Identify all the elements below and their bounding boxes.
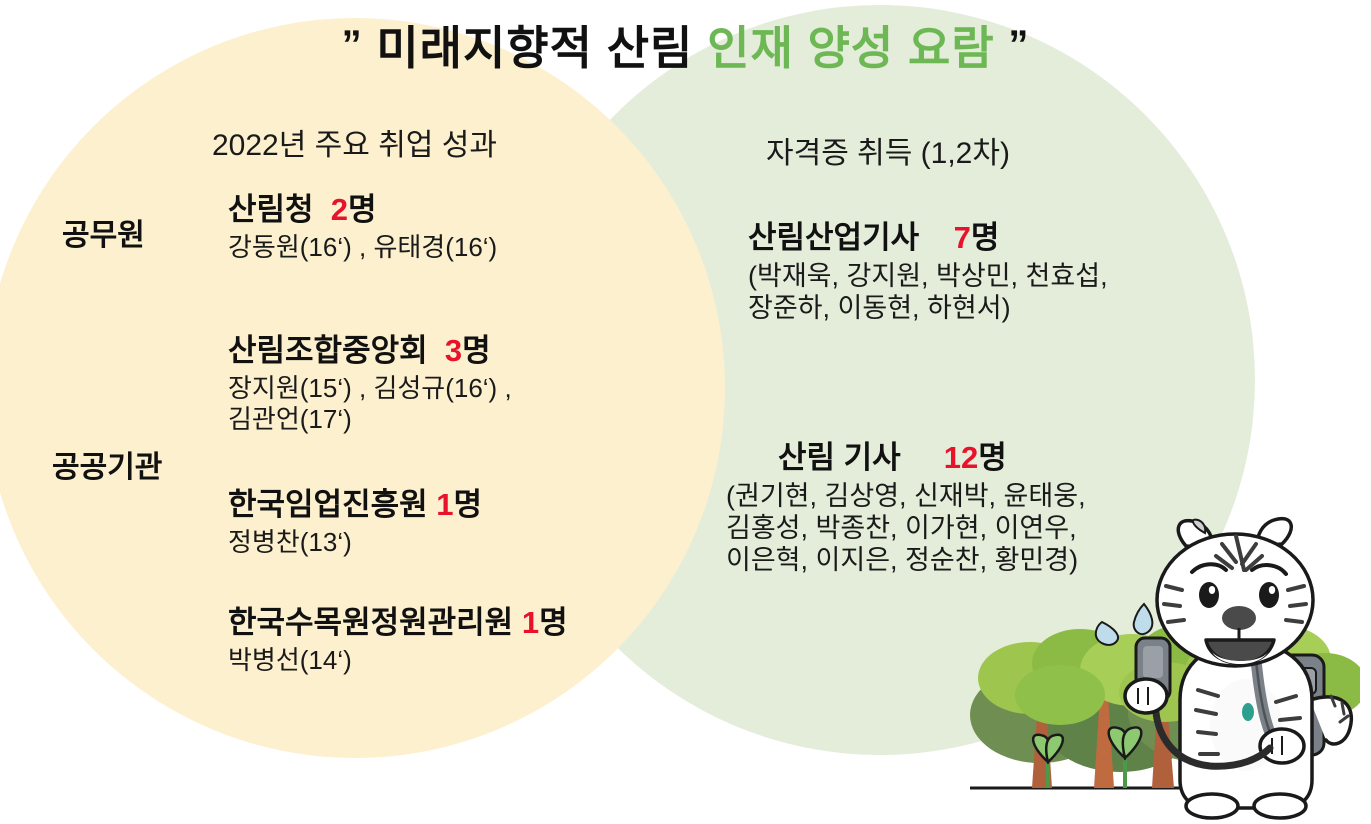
entry-forest-industry-engineer-unit: 명: [971, 220, 1000, 255]
entry-forestry-coop-count: 3: [445, 333, 462, 368]
tiger-right-paw: [1260, 729, 1304, 763]
infographic-canvas: ” 미래지향적 산림 인재 양성 요람 ” 2022년 주요 취업 성과 공무원…: [0, 0, 1371, 824]
entry-forest-service-org: 산림청: [228, 192, 314, 227]
entry-arboretum-garden-org: 한국수목원정원관리원: [228, 605, 513, 640]
quote-close: ”: [1008, 23, 1029, 67]
entry-arboretum-garden-count: 1: [522, 605, 539, 640]
entry-forest-industry-engineer-names: (박재욱, 강지원, 박상민, 천효섭, 장준하, 이동현, 하현서): [748, 260, 1108, 325]
entry-forest-service: 산림청 2명 강동원(16‘) , 유태경(16‘): [228, 192, 497, 263]
entry-arboretum-garden-names: 박병선(14‘): [228, 645, 568, 677]
entry-forestry-coop-org-line: 산림조합중앙회 3명: [228, 333, 512, 369]
entry-forest-engineer-count: 12: [944, 440, 978, 475]
entry-forestry-promotion-count: 1: [436, 487, 453, 522]
left-circle-heading: 2022년 주요 취업 성과: [212, 120, 497, 164]
tiger-head: [1157, 519, 1313, 666]
entry-forest-engineer-unit: 명: [978, 440, 1007, 475]
quote-open: ”: [342, 23, 363, 67]
entry-forestry-coop-unit: 명: [462, 333, 491, 368]
entry-forestry-promotion: 한국임업진흥원 1명 정병찬(13‘): [228, 487, 482, 558]
entry-forest-industry-engineer-org: 산림산업기사: [748, 220, 919, 255]
entry-arboretum-garden: 한국수목원정원관리원 1명 박병선(14‘): [228, 605, 568, 676]
right-circle-heading: 자격증 취득 (1,2차): [766, 128, 1010, 172]
entry-forest-service-count: 2: [331, 192, 348, 227]
entry-forestry-coop-names: 장지원(15‘) , 김성규(16‘) , 김관언(17‘): [228, 373, 512, 436]
entry-forest-engineer-org-line: 산림 기사 12명: [726, 440, 1086, 476]
title-green-part: 인재 양성 요람: [707, 22, 994, 74]
tiger-left-paw: [1125, 679, 1167, 713]
entry-forestry-coop-org: 산림조합중앙회: [228, 333, 428, 368]
category-label-public-institution: 공공기관: [52, 442, 162, 486]
page-title: ” 미래지향적 산림 인재 양성 요람 ”: [0, 25, 1371, 71]
entry-arboretum-garden-unit: 명: [539, 605, 568, 640]
category-label-public-official: 공무원: [62, 210, 145, 254]
mascot-illustration: [960, 500, 1360, 824]
entry-forest-industry-engineer: 산림산업기사 7명 (박재욱, 강지원, 박상민, 천효섭, 장준하, 이동현,…: [748, 220, 1108, 324]
entry-forest-industry-engineer-count: 7: [954, 220, 971, 255]
entry-forestry-promotion-org-line: 한국임업진흥원 1명: [228, 487, 482, 523]
entry-forestry-promotion-unit: 명: [454, 487, 483, 522]
entry-forest-service-org-line: 산림청 2명: [228, 192, 497, 228]
entry-forest-service-unit: 명: [348, 192, 377, 227]
entry-forest-industry-engineer-org-line: 산림산업기사 7명: [748, 220, 1108, 256]
title-black-part: 미래지향적 산림: [376, 22, 693, 74]
entry-arboretum-garden-org-line: 한국수목원정원관리원 1명: [228, 605, 568, 641]
entry-forestry-coop: 산림조합중앙회 3명 장지원(15‘) , 김성규(16‘) , 김관언(17‘…: [228, 333, 512, 436]
entry-forest-service-names: 강동원(16‘) , 유태경(16‘): [228, 232, 497, 264]
entry-forest-engineer-org: 산림 기사: [778, 440, 901, 475]
entry-forestry-promotion-org: 한국임업진흥원: [228, 487, 428, 522]
entry-forestry-promotion-names: 정병찬(13‘): [228, 527, 482, 559]
